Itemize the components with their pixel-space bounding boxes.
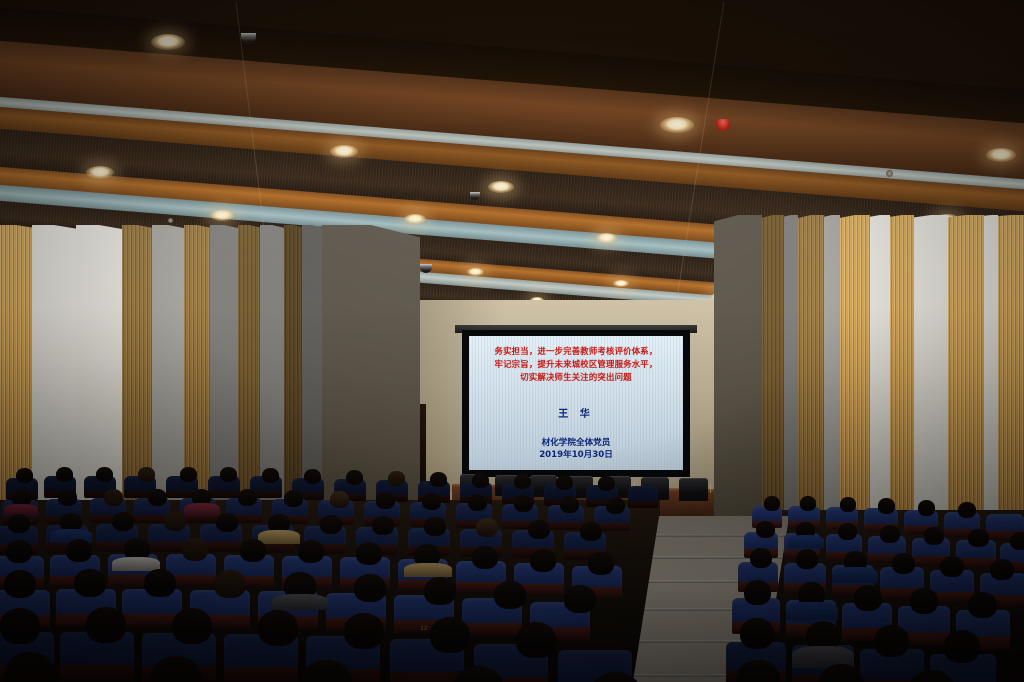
audience-head bbox=[86, 607, 126, 643]
slide-date: 2019年10月30日 bbox=[539, 449, 613, 461]
audience-head bbox=[180, 467, 197, 482]
audience-head bbox=[494, 581, 526, 609]
audience-head bbox=[556, 475, 573, 490]
audience-head bbox=[874, 625, 909, 657]
audience-head bbox=[376, 492, 395, 509]
audience-head bbox=[560, 496, 579, 513]
audience-head bbox=[182, 538, 208, 561]
audience-head bbox=[840, 497, 856, 512]
audience-head bbox=[138, 467, 155, 482]
audience-head bbox=[468, 494, 487, 511]
audience-head bbox=[564, 585, 596, 613]
audience-head bbox=[580, 522, 602, 541]
audience-head bbox=[880, 525, 900, 543]
recessed-downlight bbox=[210, 210, 234, 221]
audience-head bbox=[430, 617, 470, 653]
audience-head bbox=[606, 497, 625, 514]
audience-head bbox=[56, 467, 73, 482]
audience-head bbox=[744, 580, 771, 605]
audience-head bbox=[764, 496, 780, 511]
audience-head bbox=[968, 529, 989, 547]
audience-head bbox=[284, 490, 303, 507]
audience-head bbox=[112, 512, 134, 531]
seat[interactable] bbox=[628, 486, 658, 508]
audience-head bbox=[220, 467, 237, 482]
audience-head bbox=[320, 515, 342, 534]
audience-head bbox=[262, 468, 279, 483]
recessed-downlight bbox=[86, 166, 114, 179]
sprinkler-head bbox=[168, 218, 173, 223]
audience-head bbox=[330, 491, 349, 508]
audience-head bbox=[892, 553, 915, 574]
audience-head bbox=[240, 539, 266, 562]
audience-head bbox=[598, 476, 615, 491]
recessed-downlight bbox=[404, 214, 426, 224]
audience-head bbox=[944, 630, 980, 663]
slide-headline-line-2: 牢记宗旨，提升未来城校区管理服务水平， bbox=[495, 358, 658, 371]
audience-head bbox=[918, 500, 935, 516]
audience-shoulders bbox=[832, 567, 878, 583]
audience-head bbox=[514, 474, 531, 489]
recessed-downlight bbox=[151, 34, 185, 50]
audience-head bbox=[354, 574, 386, 602]
audience-head bbox=[216, 513, 238, 532]
audience-head bbox=[854, 585, 882, 611]
auditorium-photo: 务实担当，进一步完善教师考核评价体系， 牢记宗旨，提升未来城校区管理服务水平， … bbox=[0, 0, 1024, 682]
audience-head bbox=[838, 523, 857, 540]
audience-head bbox=[356, 542, 382, 565]
sprinkler-head bbox=[886, 170, 893, 177]
audience-head bbox=[476, 518, 498, 537]
audience-head bbox=[958, 502, 976, 518]
recessed-downlight bbox=[467, 268, 484, 276]
audience-head bbox=[472, 546, 498, 569]
audience-head bbox=[924, 527, 944, 545]
audience-head bbox=[96, 467, 113, 482]
audience-shoulders bbox=[788, 535, 824, 548]
audience-head bbox=[514, 495, 533, 512]
audience-head bbox=[304, 469, 321, 484]
audience-head bbox=[258, 610, 298, 646]
audience-head bbox=[6, 540, 32, 563]
audience-head bbox=[1010, 532, 1024, 550]
auditorium-seating: 11 12 bbox=[0, 470, 1024, 682]
audience-head bbox=[750, 548, 772, 568]
recessed-downlight bbox=[986, 148, 1016, 162]
audience-head bbox=[144, 569, 176, 597]
slide-headline-line-1: 务实担当，进一步完善教师考核评价体系， bbox=[495, 345, 658, 358]
audience-head bbox=[990, 559, 1014, 580]
audience-head bbox=[16, 468, 33, 483]
audience-head bbox=[528, 520, 550, 539]
recessed-downlight bbox=[613, 280, 629, 287]
audience-head bbox=[104, 489, 123, 506]
audience-head bbox=[298, 540, 324, 563]
audience-head bbox=[172, 608, 212, 644]
audience-head bbox=[422, 493, 441, 510]
audience-head bbox=[800, 496, 816, 511]
audience-head bbox=[388, 471, 405, 486]
recessed-downlight bbox=[330, 145, 358, 158]
audience-head bbox=[740, 618, 774, 649]
audience-head bbox=[796, 549, 818, 569]
audience-shoulders bbox=[786, 602, 838, 620]
audience-shoulders bbox=[258, 530, 300, 544]
audience-head bbox=[430, 472, 447, 487]
slide-organization: 材化学院全体党员 bbox=[542, 437, 611, 449]
audience-head bbox=[164, 512, 186, 531]
audience-shoulders bbox=[404, 563, 452, 577]
audience-head bbox=[588, 552, 614, 575]
audience-head bbox=[372, 516, 394, 535]
audience-head bbox=[66, 539, 92, 562]
recessed-downlight bbox=[660, 117, 694, 133]
fire-alarm-bell bbox=[716, 119, 730, 130]
projection-screen: 务实担当，进一步完善教师考核评价体系， 牢记宗旨，提升未来城校区管理服务水平， … bbox=[469, 336, 683, 470]
recessed-downlight bbox=[488, 181, 514, 193]
audience-shoulders bbox=[184, 503, 220, 516]
audience-head bbox=[940, 556, 964, 577]
audience-head bbox=[530, 549, 556, 572]
audience-head bbox=[148, 489, 167, 506]
audience-shoulders bbox=[272, 594, 328, 610]
audience-head bbox=[0, 608, 40, 644]
recessed-downlight bbox=[596, 233, 617, 243]
audience-head bbox=[516, 622, 556, 658]
audience-head bbox=[238, 489, 257, 506]
audience-head bbox=[756, 521, 775, 538]
slide-headline-line-3: 切实解决师生关注的突出问题 bbox=[520, 371, 631, 384]
audience-head bbox=[424, 577, 456, 605]
audience-shoulders bbox=[112, 557, 160, 571]
audience-head bbox=[74, 569, 106, 597]
audience-head bbox=[968, 592, 997, 618]
audience-head bbox=[344, 613, 384, 649]
audience-head bbox=[214, 570, 246, 598]
audience-head bbox=[4, 570, 36, 598]
audience-head bbox=[424, 517, 446, 536]
slide-speaker-name: 王 华 bbox=[558, 405, 593, 420]
audience-head bbox=[472, 473, 489, 488]
audience-head bbox=[910, 588, 938, 614]
audience-head bbox=[58, 489, 77, 506]
audience-head bbox=[878, 498, 895, 514]
audience-head bbox=[8, 514, 30, 533]
audience-head bbox=[346, 470, 363, 485]
